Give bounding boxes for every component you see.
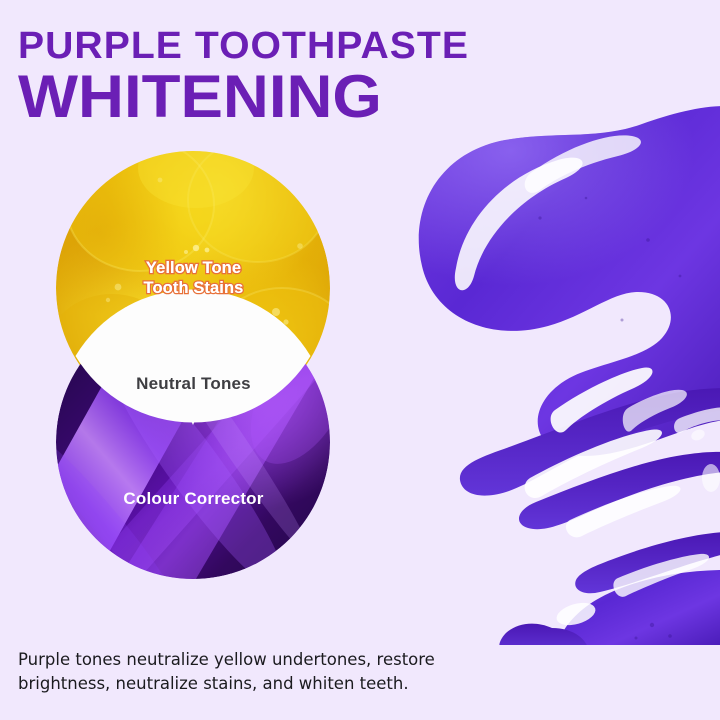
yellow-tone-label-line1-fill: Yellow Tone [146,259,241,277]
infographic-canvas: PURPLE TOOTHPASTE WHITENING [0,0,720,720]
caption-line-2: brightness, neutralize stains, and white… [18,672,578,696]
venn-svg [0,0,400,620]
purple-gel-swirl-image [380,80,720,645]
gel-swirl-svg [380,80,720,645]
yellow-tone-label-line2-fill: Tooth Stains [144,279,244,297]
venn-diagram: Yellow Tone Tooth Stains Yellow Tone Too… [0,0,400,620]
caption-line-1: Purple tones neutralize yellow undertone… [18,648,578,672]
yellow-tone-label-overlay: Yellow Tone Tooth Stains [57,258,330,298]
caption-text: Purple tones neutralize yellow undertone… [18,648,578,696]
